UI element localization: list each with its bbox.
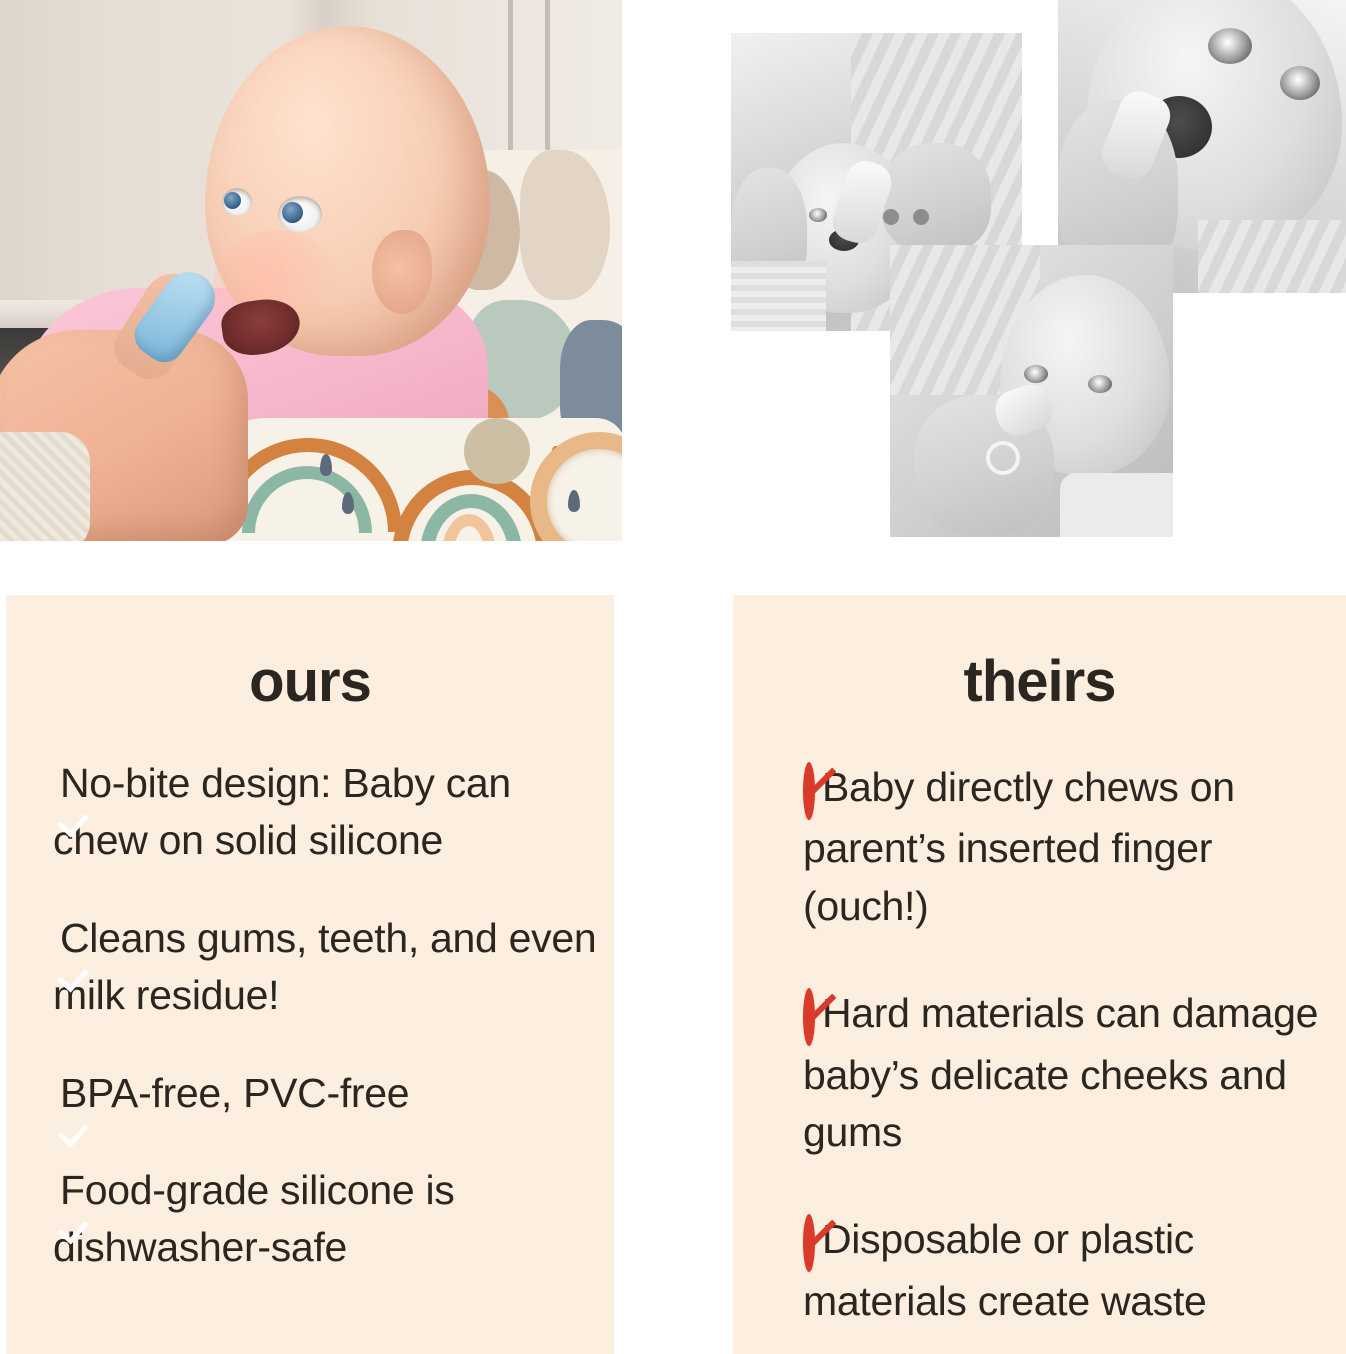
ours-bullet-text: BPA-free, PVC-free — [60, 1070, 409, 1116]
theirs-bullet-text: Disposable or plastic materials create w… — [803, 1216, 1207, 1323]
competitor-photo-collage — [720, 0, 1346, 560]
prohibited-icon — [803, 989, 815, 1046]
photo-parent-sleeve — [0, 432, 90, 541]
ours-panel-title: ours — [6, 595, 614, 711]
prohibited-icon — [803, 763, 815, 820]
ours-bullet-item: Cleans gums, teeth, and even milk residu… — [53, 910, 606, 1025]
theirs-bullet-item: Hard materials can damage baby’s delicat… — [803, 985, 1332, 1161]
ours-bullet-item: No-bite design: Baby can chew on solid s… — [53, 755, 606, 870]
theirs-panel-title: theirs — [733, 595, 1346, 711]
ours-bullet-text: No-bite design: Baby can chew on solid s… — [53, 760, 511, 863]
theirs-bullet-text: Hard materials can damage baby’s delicat… — [803, 990, 1318, 1155]
theirs-panel: theirs Baby directly chews on parent’s i… — [733, 595, 1346, 1354]
media-row — [0, 0, 1346, 560]
pillow-sun — [464, 418, 530, 484]
ours-bullet-text: Cleans gums, teeth, and even milk residu… — [53, 915, 596, 1018]
ours-bullet-list: No-bite design: Baby can chew on solid s… — [6, 711, 614, 1277]
photo-baby-iris — [224, 192, 241, 209]
ours-bullet-item: Food-grade silicone is dishwasher-safe — [53, 1162, 606, 1277]
theirs-bullet-list: Baby directly chews on parent’s inserted… — [733, 711, 1346, 1330]
fabric-blob — [520, 150, 610, 300]
theirs-bullet-text: Baby directly chews on parent’s inserted… — [803, 764, 1235, 929]
photo-baby-iris — [282, 202, 303, 223]
ours-bullet-text: Food-grade silicone is dishwasher-safe — [53, 1167, 455, 1270]
theirs-bullet-item: Disposable or plastic materials create w… — [803, 1211, 1332, 1330]
prohibited-icon — [803, 1215, 815, 1272]
collage-photo-3 — [890, 245, 1173, 537]
ours-bullet-item: BPA-free, PVC-free — [53, 1065, 606, 1122]
hero-product-photo — [0, 0, 622, 541]
theirs-bullet-item: Baby directly chews on parent’s inserted… — [803, 759, 1332, 935]
photo-baby-ear — [372, 230, 432, 314]
ours-panel: ours No-bite design: Baby can chew on so… — [6, 595, 614, 1354]
